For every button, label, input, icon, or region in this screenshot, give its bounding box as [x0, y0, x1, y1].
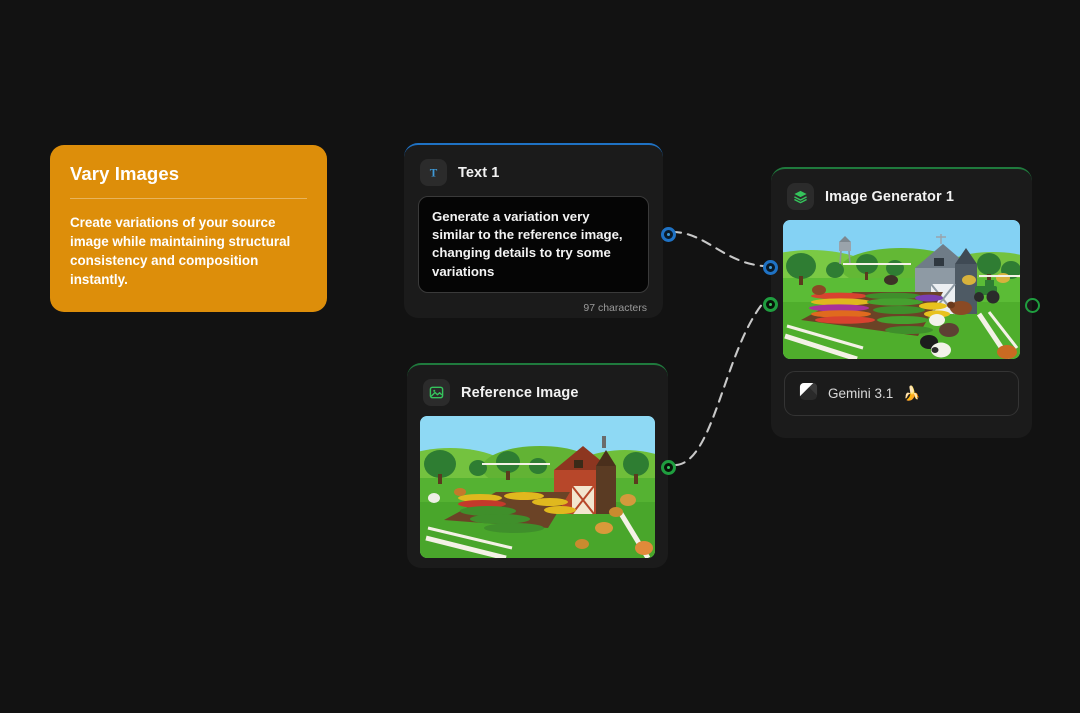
node-reference-image[interactable]: Reference Image — [407, 363, 668, 568]
reference-node-header: Reference Image — [407, 365, 668, 416]
reference-thumb-wrapper — [407, 416, 668, 558]
info-card-description: Create variations of your source image w… — [70, 213, 307, 289]
node-image-generator-1[interactable]: Image Generator 1 — [771, 167, 1032, 438]
reference-image-thumbnail[interactable] — [420, 416, 655, 558]
text-output-port[interactable] — [661, 227, 676, 242]
generator-image-input-port[interactable] — [763, 297, 778, 312]
generator-node-title: Image Generator 1 — [825, 189, 954, 205]
node-text-1[interactable]: T Text 1 Generate a variation very simil… — [404, 143, 663, 318]
text-node-header: T Text 1 — [404, 145, 663, 196]
reference-node-title: Reference Image — [461, 385, 579, 401]
gemini-split-square-icon — [799, 382, 818, 406]
info-card-divider — [70, 198, 307, 199]
image-icon — [423, 379, 450, 406]
generator-output-port[interactable] — [1025, 298, 1040, 313]
workflow-canvas[interactable]: Vary Images Create variations of your so… — [0, 0, 1080, 713]
text-node-title: Text 1 — [458, 165, 499, 181]
image-output-port[interactable] — [661, 460, 676, 475]
generator-node-header: Image Generator 1 — [771, 169, 1032, 220]
edge-reference-to-generator — [676, 303, 763, 465]
banana-icon: 🍌 — [903, 385, 920, 402]
info-card: Vary Images Create variations of your so… — [50, 145, 327, 312]
prompt-input[interactable]: Generate a variation very similar to the… — [418, 196, 649, 293]
layers-icon — [787, 183, 814, 210]
svg-text:T: T — [430, 167, 438, 179]
generator-thumb-wrapper — [771, 220, 1032, 359]
edge-text-to-generator — [672, 232, 763, 266]
model-selector[interactable]: Gemini 3.1 🍌 — [784, 371, 1019, 416]
prompt-text: Generate a variation very similar to the… — [432, 208, 635, 281]
text-T-icon: T — [420, 159, 447, 186]
generator-text-input-port[interactable] — [763, 260, 778, 275]
model-name-label: Gemini 3.1 — [828, 386, 893, 401]
char-count-label: 97 characters — [404, 293, 663, 314]
info-card-title: Vary Images — [70, 163, 307, 185]
generated-image-thumbnail[interactable] — [783, 220, 1020, 359]
